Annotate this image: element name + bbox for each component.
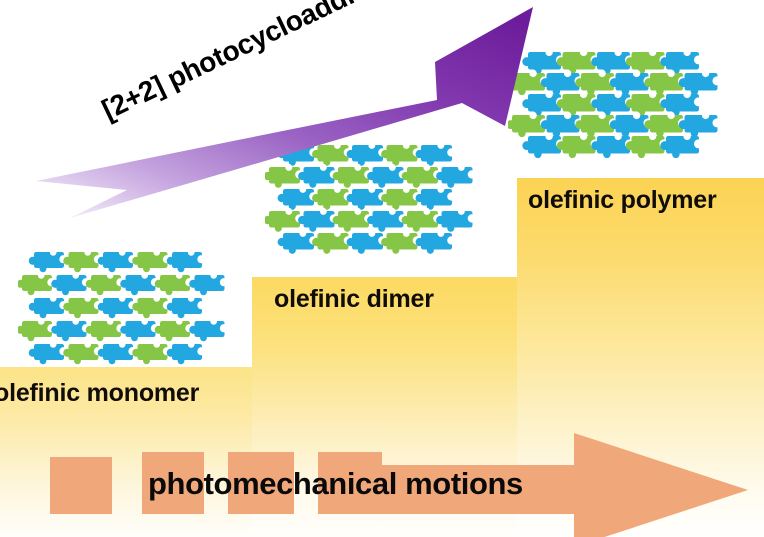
olefin-unit-blue <box>416 230 456 254</box>
olefin-unit-blue <box>347 186 387 210</box>
olefin-unit-green <box>265 164 304 188</box>
olefin-unit-blue <box>189 272 228 295</box>
olefin-unit-green <box>132 295 171 318</box>
olefin-unit-blue <box>347 142 387 166</box>
olefin-unit-green <box>381 142 421 166</box>
olefin-unit-blue <box>98 341 137 364</box>
olefin-unit-green <box>63 249 102 272</box>
olefin-unit-green <box>18 272 55 295</box>
olefin-unit-blue <box>278 230 318 254</box>
olefin-unit-green <box>402 164 442 188</box>
olefin-unit-blue <box>660 91 703 116</box>
olefin-unit-green <box>333 208 373 232</box>
olefin-unit-green <box>63 295 102 318</box>
olefin-unit-green <box>86 272 125 295</box>
olefin-unit-green <box>155 272 194 295</box>
olefin-unit-blue <box>416 142 456 166</box>
olefin-unit-blue <box>51 272 90 295</box>
olefin-unit-blue <box>298 208 338 232</box>
olefinic-monomer-cluster <box>18 246 228 366</box>
olefin-unit-green <box>18 318 55 341</box>
olefinic-polymer-cluster <box>508 48 723 168</box>
olefin-unit-blue <box>29 341 68 364</box>
olefin-unit-green <box>155 318 194 341</box>
photomechanical-motions-label: photomechanical motions <box>148 466 523 502</box>
photocycloaddition-label: [2+2] photocycloaddition <box>97 0 404 126</box>
olefin-unit-blue <box>189 318 228 341</box>
olefin-unit-green <box>132 249 171 272</box>
olefin-unit-green <box>86 318 125 341</box>
step-polymer <box>517 178 764 537</box>
olefin-unit-green <box>402 208 442 232</box>
olefin-unit-blue <box>436 208 476 232</box>
olefin-unit-blue <box>367 164 407 188</box>
olefin-unit-green <box>265 208 304 232</box>
olefin-unit-blue <box>120 272 159 295</box>
figure-canvas: [2+2] photocycloaddition photomechanical… <box>0 0 764 537</box>
olefin-unit-green <box>381 230 421 254</box>
olefin-unit-blue <box>660 133 703 158</box>
olefin-unit-green <box>312 186 352 210</box>
olefin-unit-green <box>132 341 171 364</box>
caption-olefinic-monomer: olefinic monomer <box>0 379 199 408</box>
olefin-unit-blue <box>298 164 338 188</box>
olefin-unit-blue <box>278 186 318 210</box>
olefin-unit-blue <box>278 142 318 166</box>
olefinic-dimer-cluster <box>265 140 480 258</box>
olefin-unit-blue <box>29 249 68 272</box>
caption-olefinic-polymer: olefinic polymer <box>528 186 717 215</box>
olefin-unit-blue <box>436 164 476 188</box>
olefin-unit-blue <box>660 49 703 74</box>
olefin-unit-green <box>312 230 352 254</box>
olefin-unit-green <box>312 142 352 166</box>
olefin-unit-blue <box>416 186 456 210</box>
olefin-unit-blue <box>167 295 206 318</box>
olefin-unit-green <box>333 164 373 188</box>
olefin-unit-blue <box>98 249 137 272</box>
olefin-unit-blue <box>167 249 206 272</box>
olefin-unit-blue <box>120 318 159 341</box>
caption-olefinic-dimer: olefinic dimer <box>274 285 434 314</box>
olefin-unit-blue <box>29 295 68 318</box>
olefin-unit-blue <box>167 341 206 364</box>
olefin-unit-blue <box>367 208 407 232</box>
olefin-unit-blue <box>98 295 137 318</box>
olefin-unit-blue <box>51 318 90 341</box>
olefin-unit-green <box>63 341 102 364</box>
olefin-unit-green <box>381 186 421 210</box>
olefin-unit-blue <box>347 230 387 254</box>
